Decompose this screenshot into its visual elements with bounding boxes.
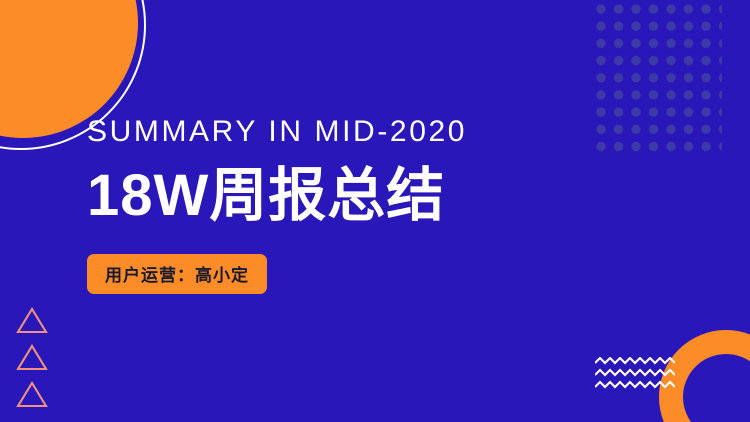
title-text-block: SUMMARY IN MID-2020 18W周报总结 用户运营：高小定 bbox=[87, 112, 647, 294]
byline-badge: 用户运营：高小定 bbox=[87, 254, 267, 294]
slide-eyebrow: SUMMARY IN MID-2020 bbox=[87, 112, 647, 152]
zigzag-lines-decoration bbox=[595, 357, 675, 393]
slide-headline: 18W周报总结 bbox=[87, 160, 647, 232]
presentation-slide: SUMMARY IN MID-2020 18W周报总结 用户运营：高小定 bbox=[0, 0, 750, 422]
triangle-outlines-decoration bbox=[16, 307, 56, 407]
